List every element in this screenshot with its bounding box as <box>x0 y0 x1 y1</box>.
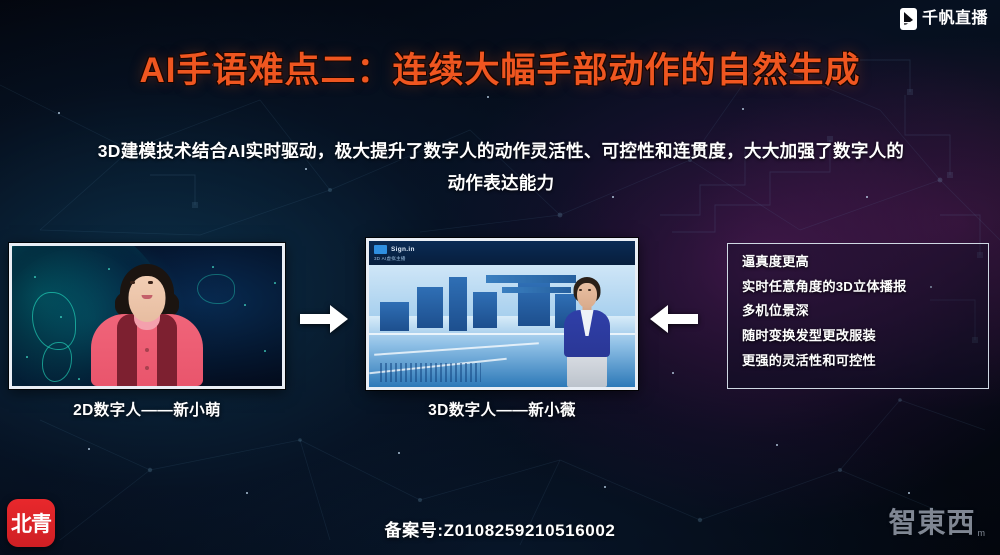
feature-list-box: 逼真度更高 实时任意角度的3D立体播报 多机位景深 随时变换发型更改服装 更强的… <box>727 243 989 389</box>
studio-overlay-title: Sign.in <box>391 246 415 253</box>
studio-logo-icon <box>374 245 387 254</box>
virtual-studio-stage <box>369 265 635 387</box>
feature-item: 逼真度更高 <box>742 255 988 268</box>
subtitle-text: 3D建模技术结合AI实时驱动，极大提升了数字人的动作灵活性、可控性和连贯度，大大… <box>96 135 906 200</box>
panel-2d-digital-human <box>9 243 285 389</box>
feature-item: 更强的灵活性和可控性 <box>742 354 988 367</box>
brand-logo: 千帆直播 <box>900 8 988 30</box>
feature-item: 多机位景深 <box>742 304 988 317</box>
beiqing-logo: 北青 <box>7 499 55 547</box>
digital-human-2d-figure <box>72 262 222 386</box>
studio-overlay-subtitle: 3D AI虚拟主播 <box>374 256 635 262</box>
watermark-superscript: m <box>978 528 987 538</box>
feature-item: 随时变换发型更改服装 <box>742 329 988 342</box>
brand-name: 千帆直播 <box>922 11 988 27</box>
page-title: AI手语难点二：连续大幅手部动作的自然生成 <box>0 42 1000 93</box>
slide-canvas: 千帆直播 AI手语难点二：连续大幅手部动作的自然生成 3D建模技术结合AI实时驱… <box>0 0 1000 555</box>
watermark-text: 智東西 <box>888 501 975 541</box>
scene-3d-background: Sign.in 3D AI虚拟主播 <box>369 241 635 387</box>
caption-3d: 3D数字人——新小薇 <box>366 398 638 420</box>
scene-2d-background <box>12 246 282 386</box>
panel-3d-digital-human: Sign.in 3D AI虚拟主播 <box>366 238 638 390</box>
studio-overlay-header: Sign.in 3D AI虚拟主播 <box>369 241 635 265</box>
sail-logo-icon <box>900 8 917 30</box>
record-number: 备案号:Z0108259210516002 <box>0 516 1000 541</box>
zhidongxi-watermark: 智東西 m <box>888 501 986 541</box>
arrow-right-icon <box>300 305 348 333</box>
digital-human-3d-figure <box>555 277 619 387</box>
caption-2d: 2D数字人——新小萌 <box>9 398 285 420</box>
beiqing-logo-text: 北青 <box>11 508 51 538</box>
arrow-left-icon <box>650 305 698 333</box>
feature-item: 实时任意角度的3D立体播报 <box>742 280 988 293</box>
